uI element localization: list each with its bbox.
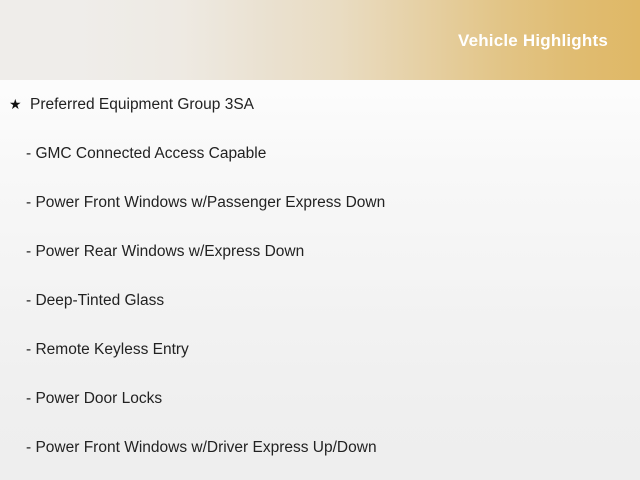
highlights-list: ★Preferred Equipment Group 3SA- GMC Conn…	[0, 80, 640, 472]
page-title: Vehicle Highlights	[458, 30, 608, 52]
list-item: - GMC Connected Access Capable	[0, 129, 640, 178]
vehicle-highlights-page: Vehicle Highlights ★Preferred Equipment …	[0, 0, 640, 480]
star-icon: ★	[9, 80, 22, 129]
list-item: - Power Front Windows w/Passenger Expres…	[0, 178, 640, 227]
list-item-label: - Remote Keyless Entry	[26, 341, 189, 358]
list-item: - Deep-Tinted Glass	[0, 276, 640, 325]
list-item-label: - Power Front Windows w/Passenger Expres…	[26, 194, 385, 211]
header-band: Vehicle Highlights	[0, 0, 640, 80]
list-item-label: Preferred Equipment Group 3SA	[30, 96, 254, 113]
list-item-label: - Power Front Windows w/Driver Express U…	[26, 439, 377, 456]
list-item-label: - Power Rear Windows w/Express Down	[26, 243, 304, 260]
list-item: ★Preferred Equipment Group 3SA	[0, 80, 640, 129]
list-item-label: - Deep-Tinted Glass	[26, 292, 164, 309]
list-item: - Remote Keyless Entry	[0, 325, 640, 374]
list-item-label: - GMC Connected Access Capable	[26, 145, 266, 162]
list-item: - Power Rear Windows w/Express Down	[0, 227, 640, 276]
list-item: - Power Door Locks	[0, 374, 640, 423]
highlights-content: ★Preferred Equipment Group 3SA- GMC Conn…	[0, 80, 640, 480]
list-item: - Power Front Windows w/Driver Express U…	[0, 423, 640, 472]
list-item-label: - Power Door Locks	[26, 390, 162, 407]
